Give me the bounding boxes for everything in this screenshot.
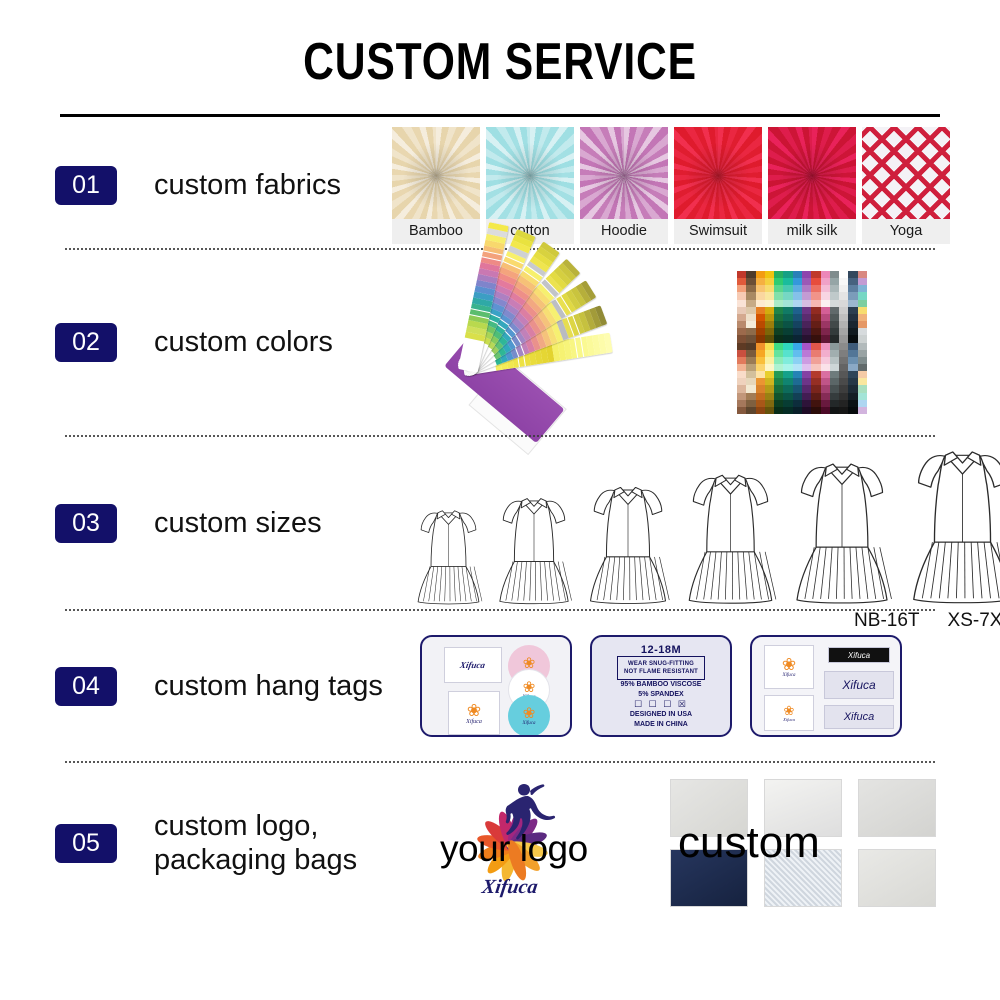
hangtag-card-script: Xifuca bbox=[444, 647, 502, 683]
dress-size-2 bbox=[493, 491, 575, 606]
row-number-badge-02: 02 bbox=[55, 323, 117, 362]
fabric-caption-milk-silk: milk silk bbox=[768, 219, 856, 244]
fabric-swatch-hoodie[interactable]: Hoodie bbox=[580, 127, 668, 244]
flower-icon-3: ❀ bbox=[523, 680, 536, 695]
custom-overlay-text: custom bbox=[678, 818, 820, 868]
woven-label-gray-large: Xifuca bbox=[824, 671, 894, 699]
care-label-warning: WEAR SNUG-FITTING NOT FLAME RESISTANT bbox=[617, 656, 705, 680]
fabric-swatch-milk-silk[interactable]: milk silk bbox=[768, 127, 856, 244]
row-body-04: Xifuca ❀ Xifuca ❀ Xifuca ❀ Xifuca ❀ Xifu… bbox=[420, 635, 1000, 737]
row-number-badge-03: 03 bbox=[55, 504, 117, 543]
fabric-image-swimsuit bbox=[674, 127, 762, 219]
row-label-01: custom fabrics bbox=[154, 168, 341, 202]
flower-icon-5: ❀ bbox=[782, 656, 796, 673]
row-custom-sizes: 03 custom sizes NB-16T XS-7XL bbox=[0, 437, 1000, 609]
flower-icon-1: ❀ bbox=[467, 702, 481, 719]
row-header-02: 02 custom colors bbox=[55, 323, 400, 362]
fabric-image-hoodie bbox=[580, 127, 668, 219]
row-header-03: 03 custom sizes bbox=[55, 504, 400, 543]
pantone-fan-deck[interactable] bbox=[455, 263, 675, 423]
fabric-caption-hoodie: Hoodie bbox=[580, 219, 668, 244]
care-label-size: 12-18M bbox=[641, 644, 681, 656]
hangtag-brand-text-2: Xifuca bbox=[466, 719, 482, 725]
fabric-swatch-yoga[interactable]: Yoga bbox=[862, 127, 950, 244]
woven-label-logo-small: ❀ Xifuca bbox=[764, 695, 814, 731]
fabric-caption-bamboo: Bamboo bbox=[392, 219, 480, 244]
dress-size-6 bbox=[904, 441, 1000, 606]
row-body-05: your logo Xifuca custom bbox=[440, 776, 1000, 911]
row-label-02: custom colors bbox=[154, 325, 333, 359]
brand-script-text: Xifuca bbox=[480, 876, 539, 899]
row-body-02 bbox=[455, 263, 1000, 423]
fabric-swatch-bamboo[interactable]: Bamboo bbox=[392, 127, 480, 244]
packaging-bag-3 bbox=[858, 779, 936, 837]
hangtag-panel-logo-cards[interactable]: Xifuca ❀ Xifuca ❀ Xifuca ❀ Xifuca ❀ Xifu… bbox=[420, 635, 572, 737]
hangtag-brand-text-1: Xifuca bbox=[460, 660, 487, 670]
row-header-04: 04 custom hang tags bbox=[55, 667, 400, 706]
your-logo-text: your logo bbox=[440, 828, 630, 870]
fabric-image-milk-silk bbox=[768, 127, 856, 219]
fabric-image-yoga bbox=[862, 127, 950, 219]
row-label-05: custom logo, packaging bags bbox=[154, 809, 357, 877]
dress-size-3 bbox=[583, 479, 673, 606]
row-header-05: 05 custom logo, packaging bags bbox=[55, 809, 400, 877]
woven-brand-2: Xifuca bbox=[783, 717, 795, 722]
woven-label-black: Xifuca bbox=[828, 647, 890, 663]
service-rows: 01 custom fabrics Bamboo cotton Hoodie bbox=[0, 117, 1000, 923]
sticker-cyan: ❀ Xifuca bbox=[508, 695, 550, 737]
care-label-origin: DESIGNED IN USA MADE IN CHINA bbox=[630, 710, 692, 729]
fabric-caption-yoga: Yoga bbox=[862, 219, 950, 244]
hangtag-panel-woven-labels[interactable]: ❀ Xifuca ❀ Xifuca Xifuca Xifuca Xifuca bbox=[750, 635, 902, 737]
fabric-swatch-swimsuit[interactable]: Swimsuit bbox=[674, 127, 762, 244]
dress-size-5 bbox=[788, 454, 896, 606]
care-label: 12-18M WEAR SNUG-FITTING NOT FLAME RESIS… bbox=[601, 644, 721, 728]
woven-label-gray-small: Xifuca bbox=[824, 705, 894, 729]
fabric-caption-swimsuit: Swimsuit bbox=[674, 219, 762, 244]
care-symbols-icon: ☐ ☐ ☐ ☒ bbox=[634, 699, 688, 710]
row-number-badge-01: 01 bbox=[55, 166, 117, 205]
brand-logo[interactable]: your logo Xifuca bbox=[440, 776, 630, 911]
hangtag-panel-care-label[interactable]: 12-18M WEAR SNUG-FITTING NOT FLAME RESIS… bbox=[590, 635, 732, 737]
woven-label-logo-large: ❀ Xifuca bbox=[764, 645, 814, 689]
page-title: CUSTOM SERVICE bbox=[90, 0, 910, 92]
woven-brand-1: Xifuca bbox=[782, 673, 795, 678]
row-header-01: 01 custom fabrics bbox=[55, 166, 400, 205]
fabric-image-cotton bbox=[486, 127, 574, 219]
fabric-swatch-list: Bamboo cotton Hoodie Swimsuit milk silk bbox=[392, 127, 950, 244]
dress-size-1 bbox=[412, 504, 485, 606]
care-label-composition: 95% BAMBOO VISCOSE 5% SPANDEX bbox=[621, 680, 702, 699]
row-body-03: NB-16T XS-7XL bbox=[400, 441, 1000, 606]
dress-size-list: NB-16T XS-7XL bbox=[412, 441, 1000, 606]
color-swatch-card[interactable] bbox=[737, 271, 867, 414]
row-label-03: custom sizes bbox=[154, 506, 322, 540]
sticker-brand-3: Xifuca bbox=[522, 721, 535, 726]
row-number-badge-04: 04 bbox=[55, 667, 117, 706]
hangtag-card-logo: ❀ Xifuca bbox=[448, 691, 500, 735]
row-label-04: custom hang tags bbox=[154, 669, 383, 703]
flower-icon-6: ❀ bbox=[784, 704, 795, 717]
packaging-bag-grid[interactable]: custom bbox=[670, 779, 936, 907]
row-custom-logo-packaging: 05 custom logo, packaging bags your logo… bbox=[0, 763, 1000, 923]
flower-icon-4: ❀ bbox=[523, 706, 536, 721]
row-number-badge-05: 05 bbox=[55, 824, 117, 863]
row-custom-colors: 02 custom colors bbox=[0, 250, 1000, 435]
dress-size-4 bbox=[681, 466, 780, 606]
packaging-bag-6 bbox=[858, 849, 936, 907]
row-custom-hang-tags: 04 custom hang tags Xifuca ❀ Xifuca ❀ Xi… bbox=[0, 611, 1000, 761]
fabric-image-bamboo bbox=[392, 127, 480, 219]
